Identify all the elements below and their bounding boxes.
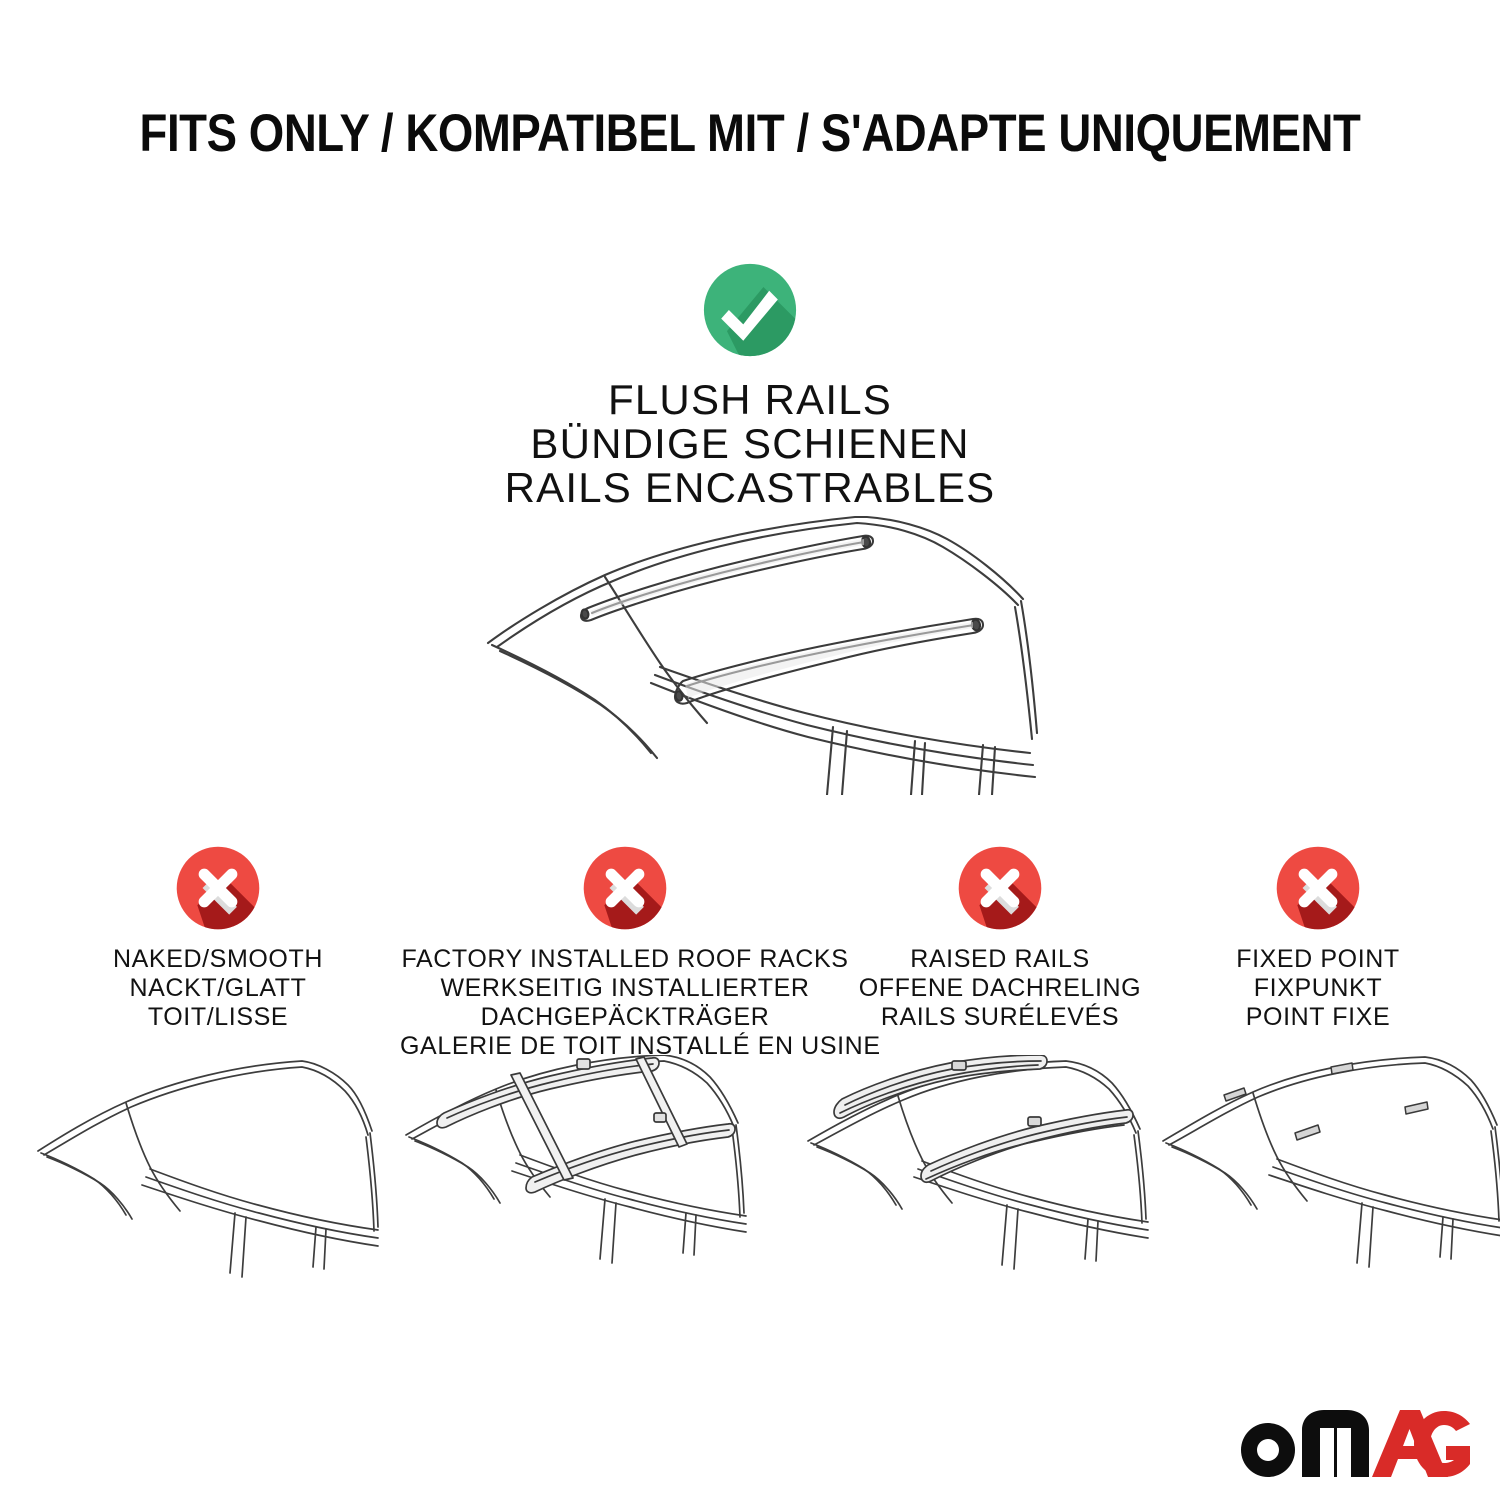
incompatible-label: NAKED/SMOOTH NACKT/GLATT TOIT/LISSE [58, 945, 378, 1032]
car-roof-raised-rails-illustration [800, 1055, 1150, 1315]
incompatible-label-line-1: FACTORY INSTALLED ROOF RACKS [400, 945, 850, 974]
illustration-row [0, 1055, 1500, 1315]
incompatible-item-raised-rails: RAISED RAILS OFFENE DACHRELING RAILS SUR… [855, 845, 1145, 1032]
incompatible-label: FIXED POINT FIXPUNKT POINT FIXE [1165, 945, 1471, 1032]
cross-circle-icon [175, 845, 261, 931]
compatible-label-line-1: FLUSH RAILS [0, 378, 1500, 422]
check-circle-icon [702, 262, 798, 358]
incompatible-label-line-3: DACHGEPÄCKTRÄGER [400, 1003, 850, 1032]
incompatible-label-line-3: POINT FIXE [1165, 1003, 1471, 1032]
car-roof-factory-racks-illustration [398, 1055, 748, 1315]
incompatible-item-factory-racks: FACTORY INSTALLED ROOF RACKS WERKSEITIG … [400, 845, 850, 1061]
incompatible-label-line-1: NAKED/SMOOTH [58, 945, 378, 974]
incompatible-label-line-2: FIXPUNKT [1165, 974, 1471, 1003]
cross-circle-icon [957, 845, 1043, 931]
incompatible-item-fixed-point: FIXED POINT FIXPUNKT POINT FIXE [1165, 845, 1471, 1032]
cross-circle-icon [1275, 845, 1361, 931]
incompatible-label-line-2: OFFENE DACHRELING [855, 974, 1145, 1003]
compatible-label: FLUSH RAILS BÜNDIGE SCHIENEN RAILS ENCAS… [0, 378, 1500, 510]
incompatible-label-line-1: FIXED POINT [1165, 945, 1471, 974]
cross-circle-icon [582, 845, 668, 931]
car-roof-flush-rails-illustration [455, 495, 1055, 795]
page-title: FITS ONLY / KOMPATIBEL MIT / S'ADAPTE UN… [105, 103, 1395, 164]
incompatible-label-line-3: RAILS SURÉLEVÉS [855, 1003, 1145, 1032]
omac-logo-red-part [1372, 1410, 1470, 1477]
compatible-label-line-2: BÜNDIGE SCHIENEN [0, 422, 1500, 466]
incompatible-label-line-2: WERKSEITIG INSTALLIERTER [400, 974, 850, 1003]
incompatible-label-line-1: RAISED RAILS [855, 945, 1145, 974]
incompatible-item-naked-smooth: NAKED/SMOOTH NACKT/GLATT TOIT/LISSE [58, 845, 378, 1032]
omac-logo-black-part [1241, 1410, 1369, 1477]
car-roof-naked-smooth-illustration [30, 1055, 380, 1315]
compatible-section: FLUSH RAILS BÜNDIGE SCHIENEN RAILS ENCAS… [0, 262, 1500, 510]
incompatible-label: FACTORY INSTALLED ROOF RACKS WERKSEITIG … [400, 945, 850, 1061]
omac-logo [1232, 1408, 1472, 1482]
incompatible-label-line-2: NACKT/GLATT [58, 974, 378, 1003]
car-roof-fixed-point-illustration [1155, 1055, 1500, 1315]
fitment-infographic: FITS ONLY / KOMPATIBEL MIT / S'ADAPTE UN… [0, 0, 1500, 1500]
incompatible-label: RAISED RAILS OFFENE DACHRELING RAILS SUR… [855, 945, 1145, 1032]
incompatible-label-line-3: TOIT/LISSE [58, 1003, 378, 1032]
